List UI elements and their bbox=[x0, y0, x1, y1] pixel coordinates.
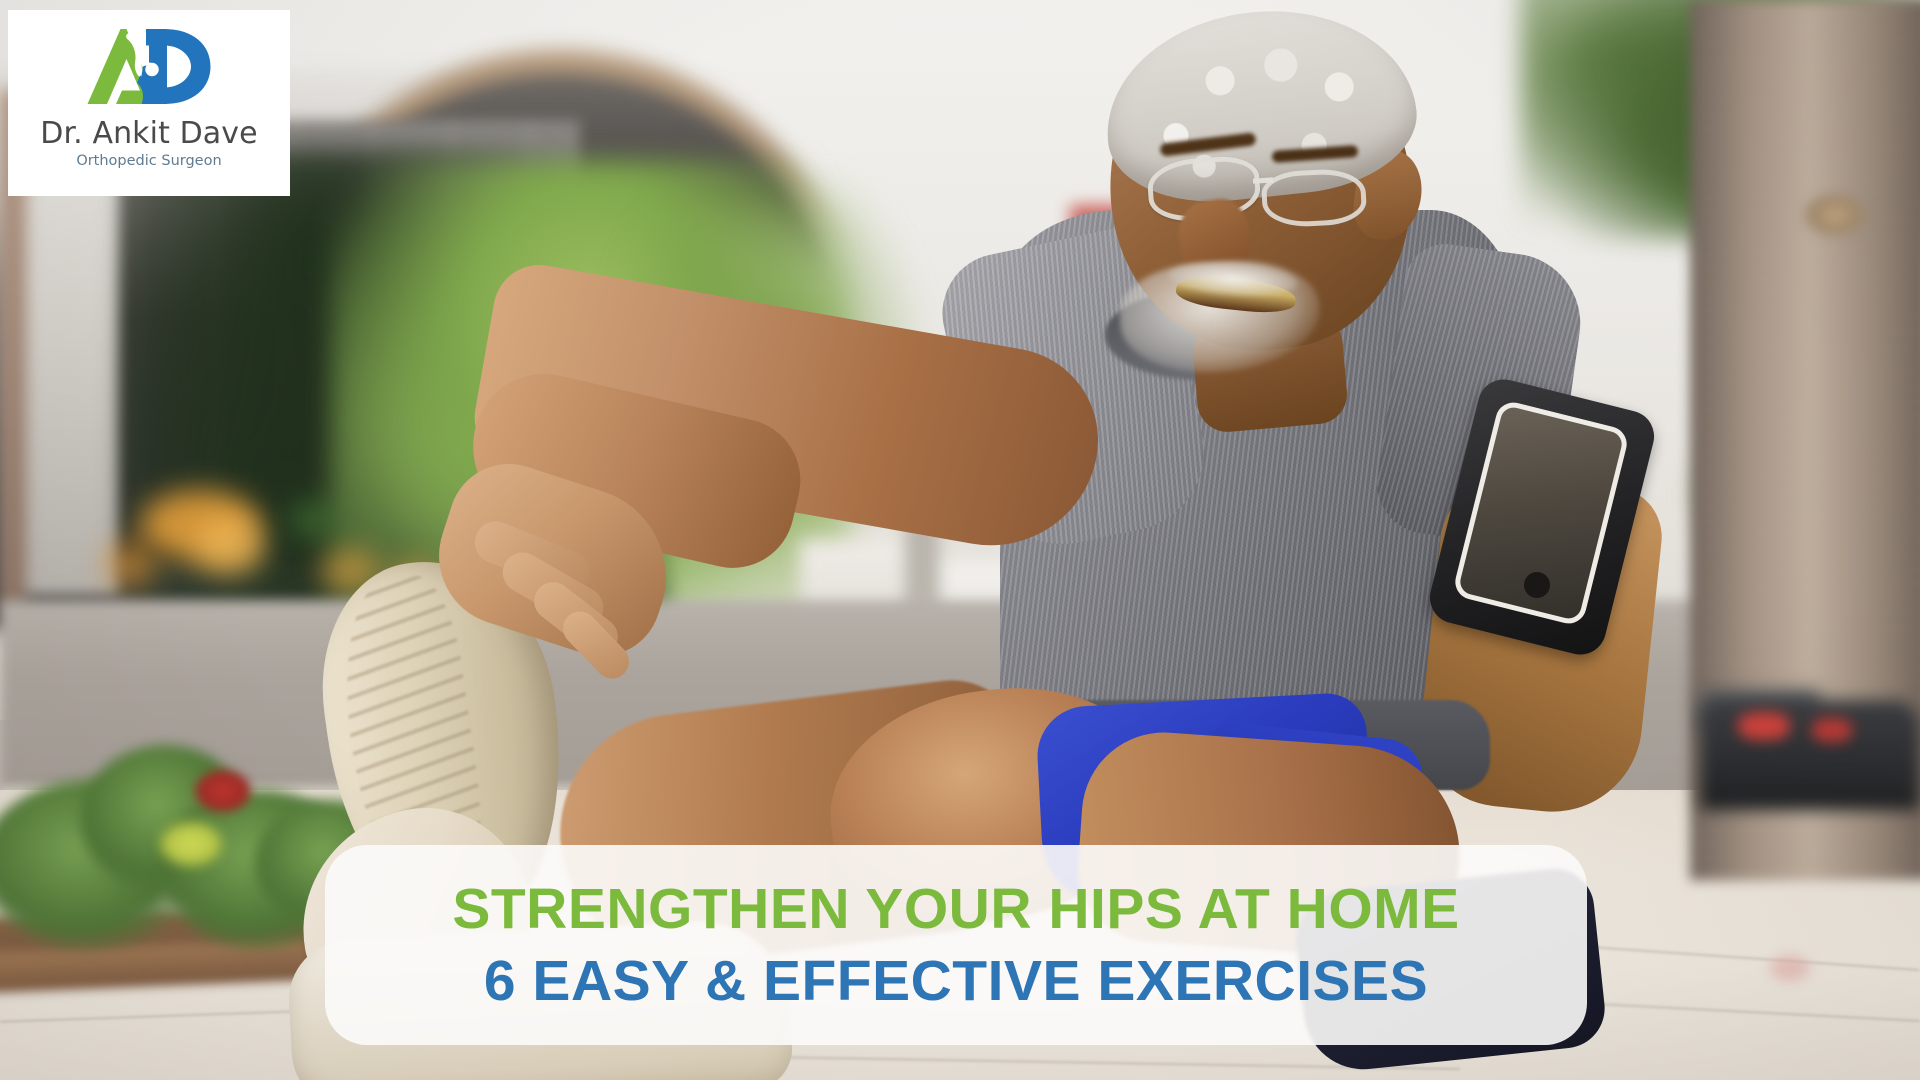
promo-graphic: Dr. Ankit Dave Orthopedic Surgeon STRENG… bbox=[0, 0, 1920, 1080]
logo-card: Dr. Ankit Dave Orthopedic Surgeon bbox=[8, 10, 290, 196]
banner-headline: STRENGTHEN YOUR HIPS AT HOME bbox=[452, 876, 1459, 942]
banner-subheadline: 6 EASY & EFFECTIVE EXERCISES bbox=[484, 948, 1428, 1014]
practice-name: Dr. Ankit Dave bbox=[40, 116, 257, 151]
title-banner: STRENGTHEN YOUR HIPS AT HOME 6 EASY & EF… bbox=[325, 845, 1587, 1045]
practice-specialty: Orthopedic Surgeon bbox=[76, 153, 221, 169]
ad-monogram-orthopedic-logo-icon bbox=[74, 22, 224, 114]
